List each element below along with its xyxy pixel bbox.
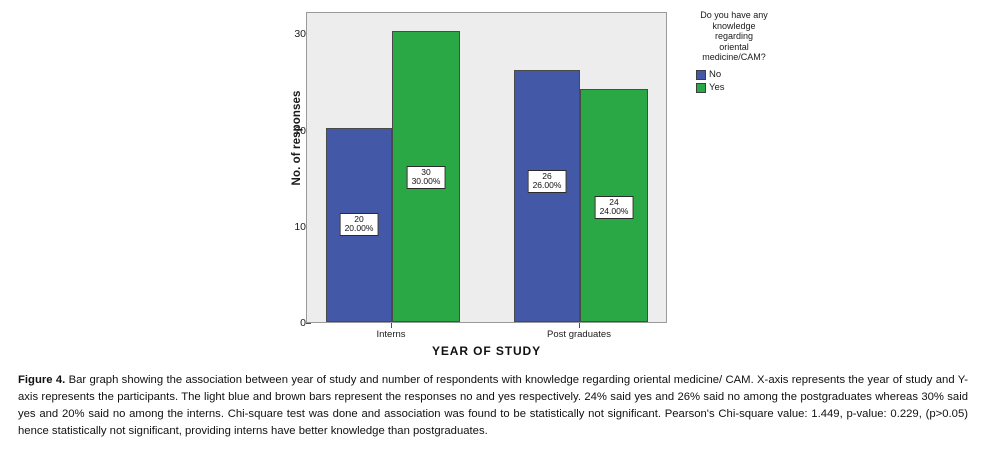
x-axis: Interns Post graduates	[306, 323, 667, 343]
bar-label-percent: 20.00%	[345, 224, 374, 233]
y-axis: 0 10 20 30	[278, 12, 306, 323]
figure-caption-text: Bar graph showing the association betwee…	[18, 374, 968, 437]
figure-caption: Figure 4. Bar graph showing the associat…	[18, 372, 968, 441]
legend-label-no: No	[709, 69, 721, 80]
y-tick-label-20: 20	[284, 125, 306, 137]
legend-title: Do you have any knowledge regarding orie…	[670, 10, 798, 63]
bar-label-postgraduates-no: 26 26.00%	[528, 170, 567, 193]
bar-postgraduates-no	[514, 70, 580, 322]
bar-label-percent: 24.00%	[600, 207, 629, 216]
x-tick-label-interns: Interns	[376, 329, 405, 340]
y-tick-label-10: 10	[284, 221, 306, 233]
bar-label-percent: 30.00%	[412, 177, 441, 186]
x-tick-label-postgraduates: Post graduates	[547, 329, 611, 340]
legend-items: No Yes	[670, 69, 798, 93]
y-tick-label-0: 0	[284, 317, 306, 329]
legend-label-yes: Yes	[709, 82, 725, 93]
plot-inner: 20 20.00% 30 30.00% 26 26.00% 24 24.00%	[307, 13, 666, 322]
legend-swatch-yes-icon	[696, 83, 706, 93]
legend-item-no[interactable]: No	[696, 69, 798, 80]
bar-label-interns-yes: 30 30.00%	[407, 166, 446, 189]
legend-item-yes[interactable]: Yes	[696, 82, 798, 93]
bar-label-percent: 26.00%	[533, 181, 562, 190]
x-axis-title: YEAR OF STUDY	[306, 344, 667, 358]
bar-label-interns-no: 20 20.00%	[340, 213, 379, 236]
y-tick-label-30: 30	[284, 28, 306, 40]
bar-label-postgraduates-yes: 24 24.00%	[595, 196, 634, 219]
legend: Do you have any knowledge regarding orie…	[670, 10, 798, 95]
legend-swatch-no-icon	[696, 70, 706, 80]
figure-area: No. of responses 0 10 20 30 20 20.00%	[0, 0, 984, 366]
x-tick-mark-postgraduates	[579, 323, 580, 328]
plot-area: 20 20.00% 30 30.00% 26 26.00% 24 24.00%	[306, 12, 667, 323]
x-tick-mark-interns	[391, 323, 392, 328]
figure-caption-label: Figure 4.	[18, 374, 65, 386]
